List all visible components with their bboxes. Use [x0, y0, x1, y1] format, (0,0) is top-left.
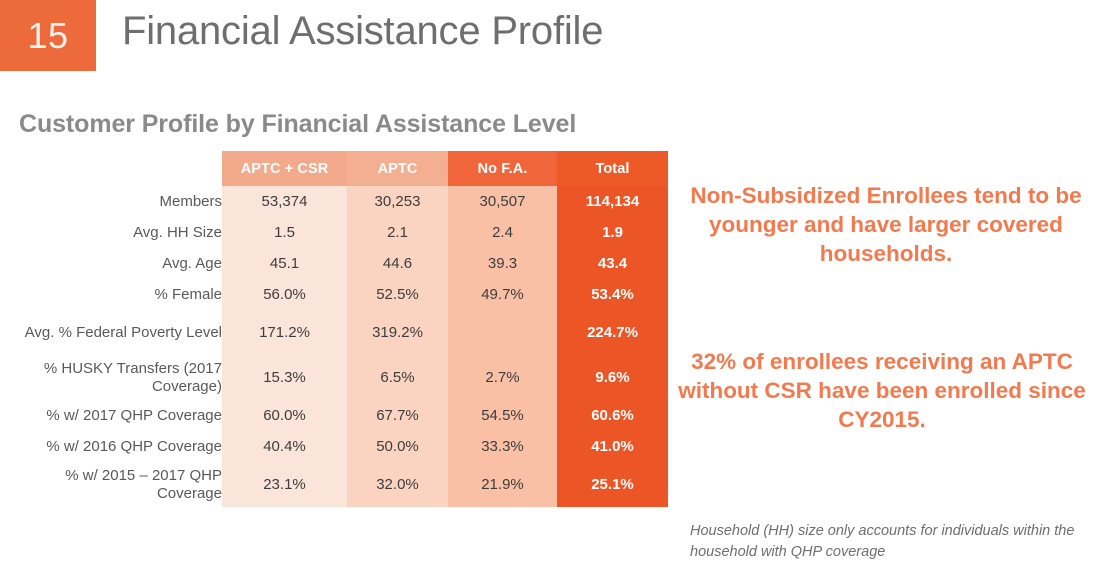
table-header-blank	[10, 151, 222, 186]
table-cell: 39.3	[448, 248, 557, 279]
table-cell: 33.3%	[448, 431, 557, 462]
row-label: % w/ 2015 – 2017 QHP Coverage	[10, 462, 222, 507]
table-cell: 2.1	[347, 217, 448, 248]
table-row: Avg. % Federal Poverty Level171.2%319.2%…	[10, 310, 668, 355]
table-cell: 40.4%	[222, 431, 347, 462]
table-cell: 49.7%	[448, 279, 557, 310]
row-label: % HUSKY Transfers (2017 Coverage)	[10, 355, 222, 400]
table-cell	[448, 310, 557, 355]
slide-number: 15	[27, 18, 68, 54]
section-heading: Customer Profile by Financial Assistance…	[19, 110, 576, 139]
table-cell: 56.0%	[222, 279, 347, 310]
row-label: Avg. % Federal Poverty Level	[10, 310, 222, 355]
table-cell: 21.9%	[448, 462, 557, 507]
table-row: Avg. HH Size1.52.12.41.9	[10, 217, 668, 248]
table-cell: 9.6%	[557, 355, 668, 400]
table-cell: 52.5%	[347, 279, 448, 310]
financial-assistance-table: APTC + CSR APTC No F.A. Total Members53,…	[10, 151, 668, 507]
callout-aptc-without-csr: 32% of enrollees receiving an APTC witho…	[672, 348, 1092, 434]
table-header-aptc: APTC	[347, 151, 448, 186]
row-label: % Female	[10, 279, 222, 310]
table-cell: 171.2%	[222, 310, 347, 355]
table-cell: 41.0%	[557, 431, 668, 462]
row-label: % w/ 2016 QHP Coverage	[10, 431, 222, 462]
table-row: Avg. Age45.144.639.343.4	[10, 248, 668, 279]
row-label: Avg. Age	[10, 248, 222, 279]
table-row: % w/ 2016 QHP Coverage40.4%50.0%33.3%41.…	[10, 431, 668, 462]
table-cell: 25.1%	[557, 462, 668, 507]
table-cell: 2.7%	[448, 355, 557, 400]
row-label: % w/ 2017 QHP Coverage	[10, 400, 222, 431]
table-cell: 30,507	[448, 186, 557, 217]
table-header: APTC + CSR APTC No F.A. Total	[10, 151, 668, 186]
table-cell: 44.6	[347, 248, 448, 279]
table-cell: 1.5	[222, 217, 347, 248]
slide-number-badge: 15	[0, 0, 96, 71]
table-header-no-fa: No F.A.	[448, 151, 557, 186]
table-cell: 54.5%	[448, 400, 557, 431]
table-cell: 43.4	[557, 248, 668, 279]
callout-non-subsidized: Non-Subsidized Enrollees tend to be youn…	[690, 182, 1082, 268]
table-header-row: APTC + CSR APTC No F.A. Total	[10, 151, 668, 186]
table-header-aptc-csr: APTC + CSR	[222, 151, 347, 186]
table-cell: 50.0%	[347, 431, 448, 462]
table-row: Members53,37430,25330,507114,134	[10, 186, 668, 217]
table-cell: 23.1%	[222, 462, 347, 507]
table-cell: 45.1	[222, 248, 347, 279]
table-cell: 30,253	[347, 186, 448, 217]
table-cell: 53,374	[222, 186, 347, 217]
slide-header: 15 Financial Assistance Profile	[0, 0, 1100, 71]
table-cell: 319.2%	[347, 310, 448, 355]
table-cell: 67.7%	[347, 400, 448, 431]
table-header-total: Total	[557, 151, 668, 186]
table-row: % HUSKY Transfers (2017 Coverage)15.3%6.…	[10, 355, 668, 400]
table-cell: 60.6%	[557, 400, 668, 431]
table-cell: 1.9	[557, 217, 668, 248]
page-title: Financial Assistance Profile	[122, 9, 603, 54]
table-cell: 6.5%	[347, 355, 448, 400]
table-row: % Female56.0%52.5%49.7%53.4%	[10, 279, 668, 310]
table-row: % w/ 2015 – 2017 QHP Coverage23.1%32.0%2…	[10, 462, 668, 507]
table-cell: 2.4	[448, 217, 557, 248]
table-body: Members53,37430,25330,507114,134Avg. HH …	[10, 186, 668, 507]
table-cell: 114,134	[557, 186, 668, 217]
table-cell: 224.7%	[557, 310, 668, 355]
row-label: Avg. HH Size	[10, 217, 222, 248]
row-label: Members	[10, 186, 222, 217]
footnote-household-size: Household (HH) size only accounts for in…	[690, 521, 1086, 563]
table-row: % w/ 2017 QHP Coverage60.0%67.7%54.5%60.…	[10, 400, 668, 431]
table-cell: 15.3%	[222, 355, 347, 400]
table-cell: 53.4%	[557, 279, 668, 310]
table-cell: 60.0%	[222, 400, 347, 431]
table-cell: 32.0%	[347, 462, 448, 507]
